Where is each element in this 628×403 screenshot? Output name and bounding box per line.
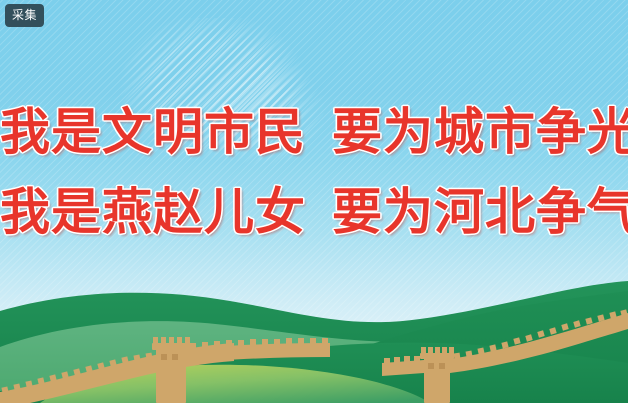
poster-canvas: 我是文明市民要为城市争光 我是燕赵儿女要为河北争气 <box>0 0 628 403</box>
great-wall-right-watchtower <box>420 347 454 403</box>
great-wall-left-watchtower <box>152 337 190 403</box>
landscape-illustration <box>0 263 628 403</box>
capture-button[interactable]: 采集 <box>5 4 44 27</box>
